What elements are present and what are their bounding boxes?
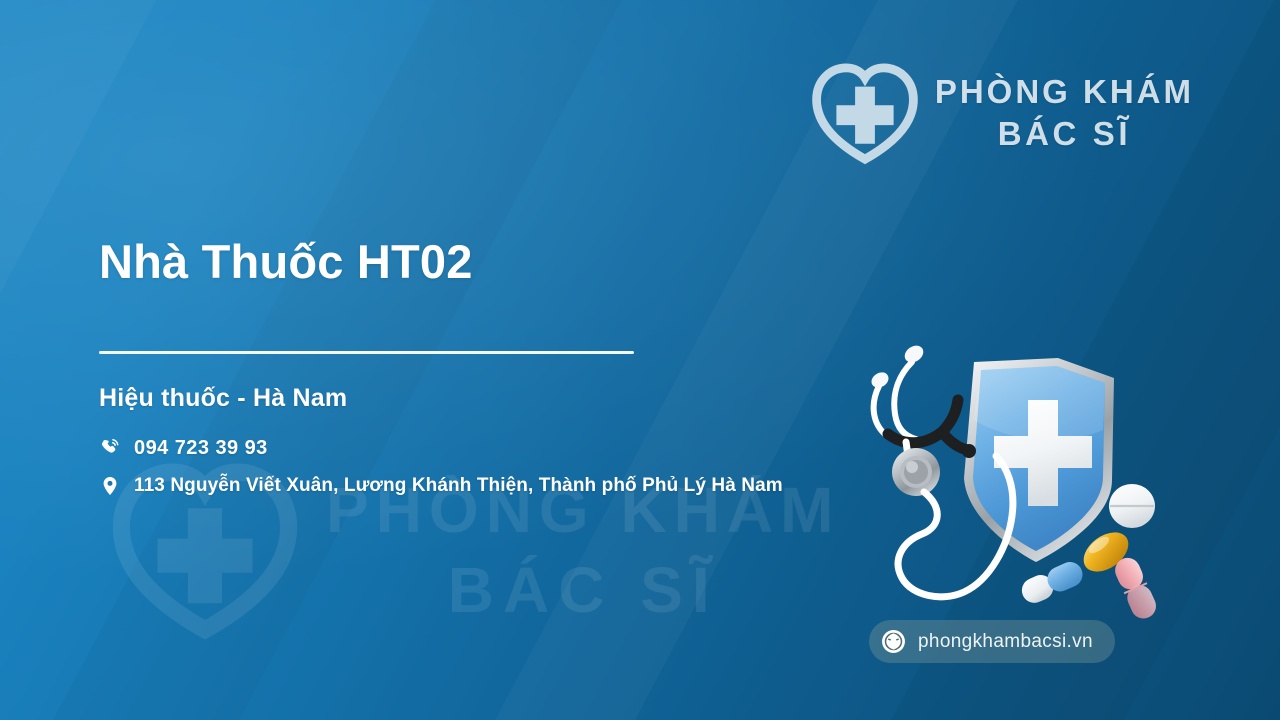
brand-line2: BÁC SĨ: [935, 117, 1194, 152]
map-pin-icon: [99, 474, 121, 498]
info-block: Nhà Thuốc HT02 Hiệu thuốc - Hà Nam 094 7…: [99, 236, 919, 499]
watermark-line2: BÁC SĨ: [326, 558, 840, 622]
phone-number: 094 723 39 93: [134, 435, 268, 463]
subtitle: Hiệu thuốc - Hà Nam: [99, 384, 919, 413]
clinic-banner: PHÒNG KHÁM BÁC SĨ PHÒNG KHÁM BÁC SĨ Nhà …: [0, 0, 1280, 720]
divider: [99, 351, 634, 354]
phone-row[interactable]: 094 723 39 93: [99, 435, 919, 463]
round-white-pill: [1109, 484, 1155, 528]
website-label: phongkhambacsi.vn: [918, 631, 1093, 653]
pill-group: [1018, 484, 1160, 620]
blue-white-capsule: [1018, 558, 1087, 607]
page-title: Nhà Thuốc HT02: [99, 236, 919, 289]
address-text: 113 Nguyễn Viết Xuân, Lương Khánh Thiện,…: [134, 473, 783, 499]
pink-white-capsule: [1111, 554, 1160, 620]
website-badge[interactable]: phongkhambacsi.vn: [869, 620, 1115, 663]
brand-line1: PHÒNG KHÁM: [935, 75, 1194, 110]
shield-with-cross: [964, 358, 1114, 562]
brand-logo: PHÒNG KHÁM BÁC SĨ: [809, 58, 1194, 168]
medical-heart-cross-icon: [809, 58, 921, 168]
globe-icon: [881, 629, 906, 654]
address-row[interactable]: 113 Nguyễn Viết Xuân, Lương Khánh Thiện,…: [99, 473, 919, 499]
gold-capsule: [1076, 524, 1135, 579]
phone-call-icon: [99, 436, 121, 460]
